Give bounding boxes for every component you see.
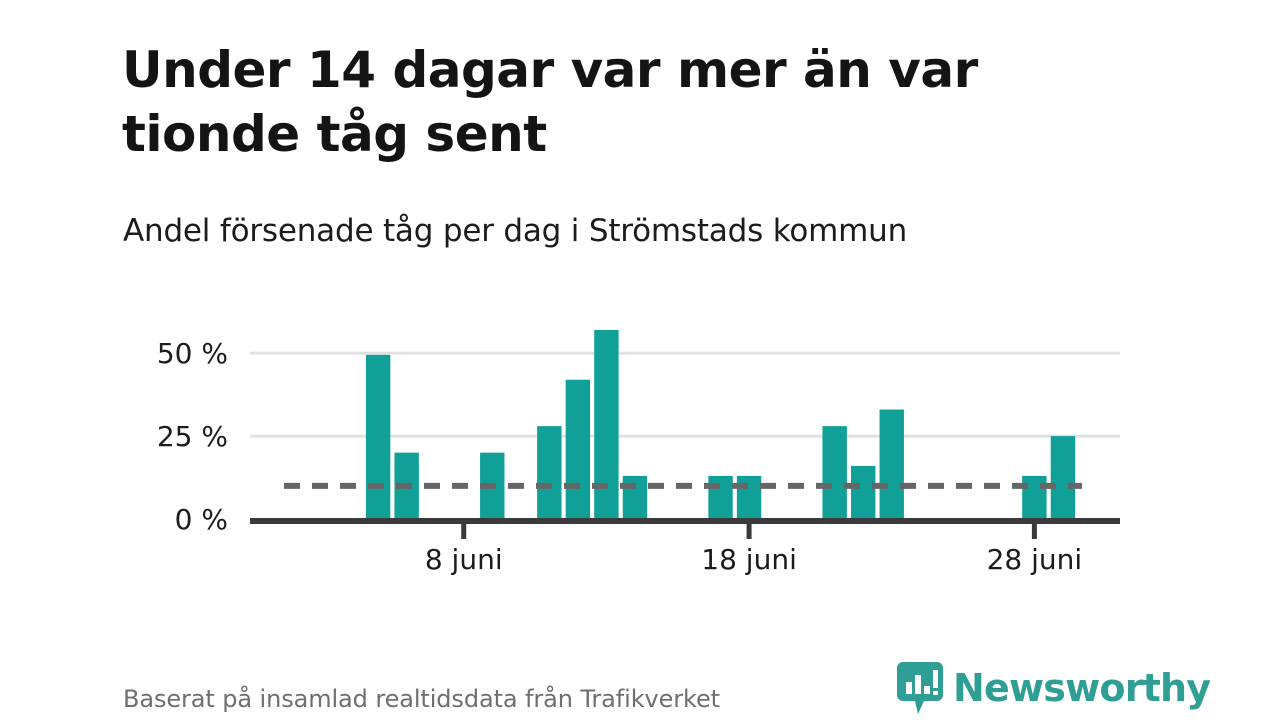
y-tick-label: 50 % — [157, 337, 228, 370]
x-tick-label: 28 juni — [987, 543, 1083, 576]
chart-page: Under 14 dagar var mer än var tionde tåg… — [0, 0, 1280, 720]
x-tick-label-group: 8 juni18 juni28 juni — [425, 543, 1082, 576]
page-title: Under 14 dagar var mer än var tionde tåg… — [122, 38, 1162, 166]
bar[interactable] — [1022, 476, 1046, 519]
x-tick-label: 18 juni — [701, 543, 797, 576]
bar[interactable] — [623, 476, 647, 519]
y-tick-label: 25 % — [157, 420, 228, 453]
bars-group — [366, 330, 1075, 519]
bar[interactable] — [594, 330, 618, 519]
bar[interactable] — [851, 466, 875, 519]
source-note: Baserat på insamlad realtidsdata från Tr… — [123, 685, 720, 713]
bar[interactable] — [708, 476, 732, 519]
gridlines-group — [250, 353, 1120, 436]
bar[interactable] — [537, 426, 561, 519]
x-tick-label: 8 juni — [425, 543, 503, 576]
bar[interactable] — [822, 426, 846, 519]
chart-subtitle: Andel försenade tåg per dag i Strömstads… — [123, 213, 907, 249]
bar[interactable] — [1051, 436, 1075, 519]
bar[interactable] — [394, 453, 418, 519]
x-tick-group — [464, 523, 1035, 539]
brand-logo: Newsworthy — [897, 662, 1210, 714]
brand-name: Newsworthy — [953, 669, 1210, 707]
bar[interactable] — [480, 453, 504, 519]
bar[interactable] — [566, 380, 590, 519]
bar[interactable] — [366, 355, 390, 519]
bar[interactable] — [880, 410, 904, 519]
y-tick-label-group: 0 %25 %50 % — [157, 337, 228, 536]
bar-chart-speech-bubble-icon — [897, 662, 943, 714]
y-tick-label: 0 % — [175, 503, 228, 536]
bar[interactable] — [737, 476, 761, 519]
